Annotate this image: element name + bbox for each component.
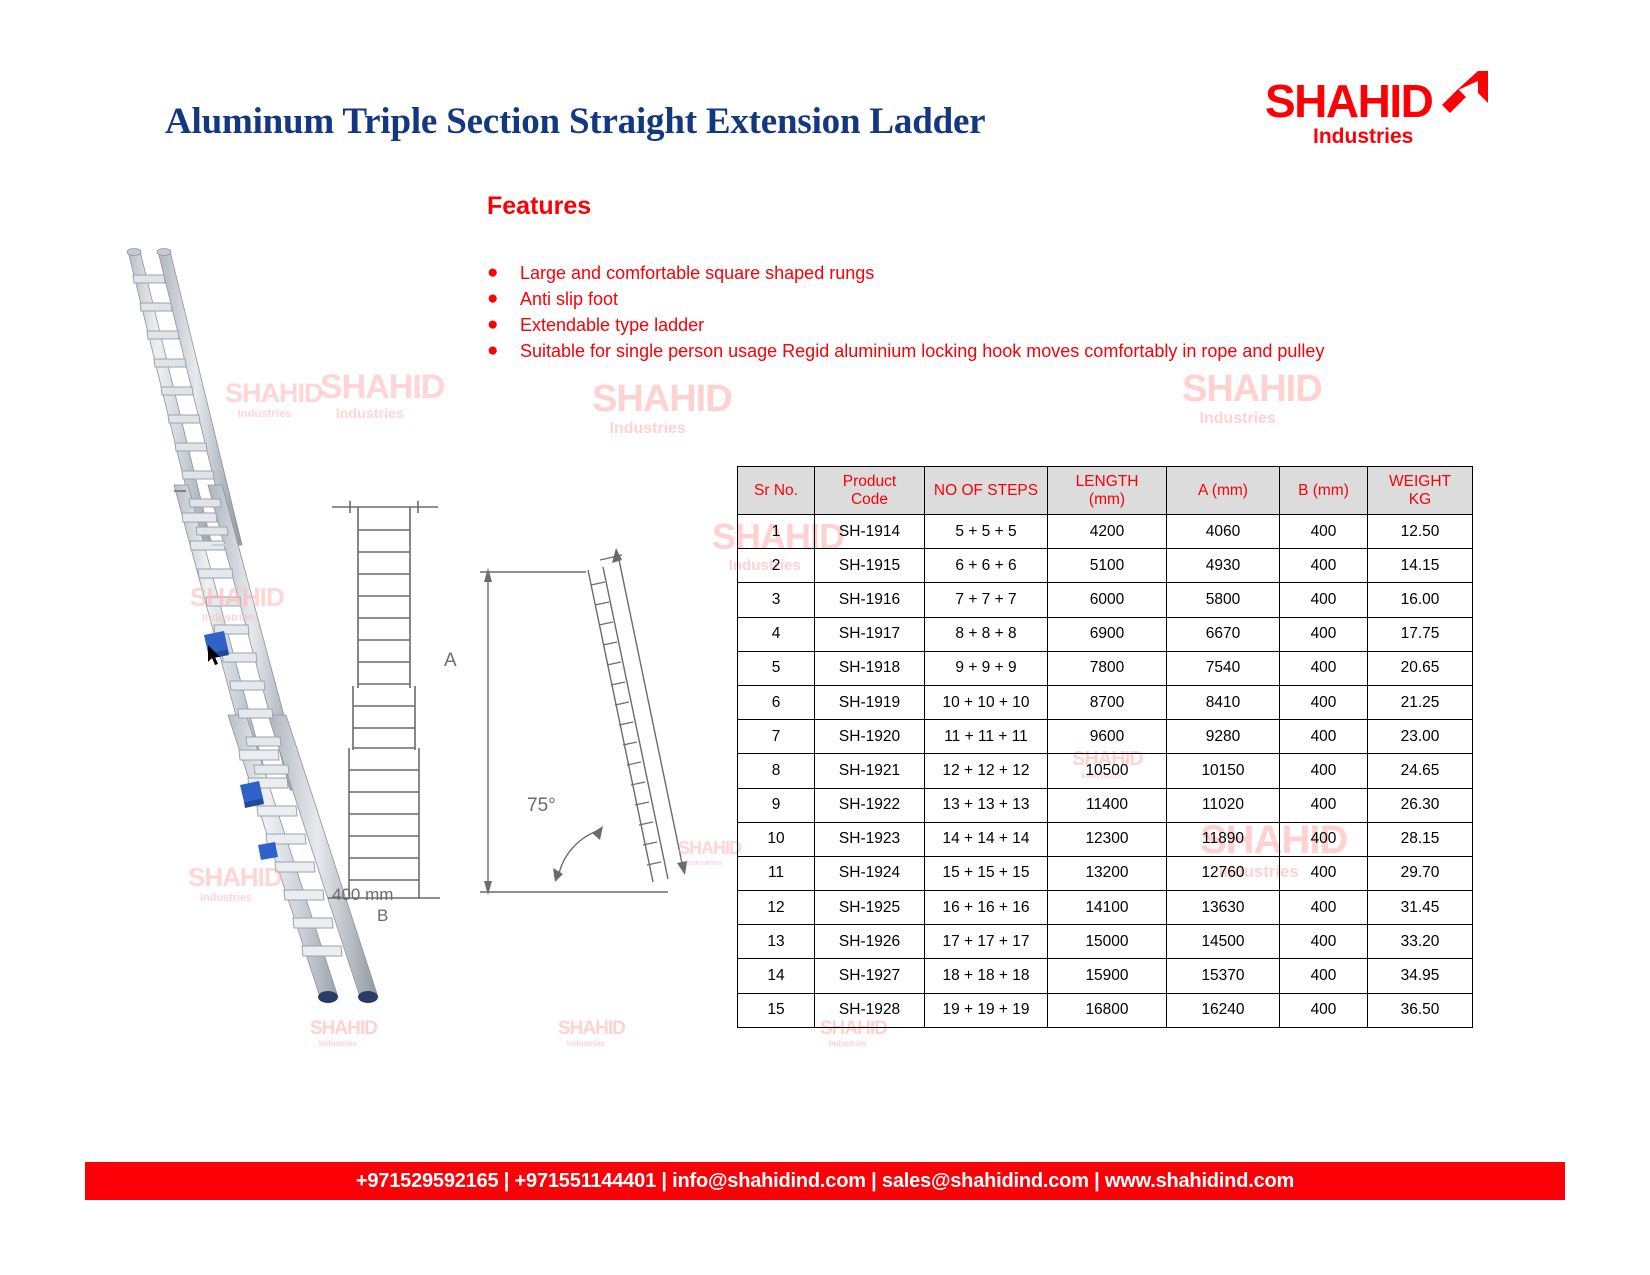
cell-product-code: SH-1923 (815, 822, 925, 856)
cell-sr-no: 11 (738, 856, 815, 890)
cell-length: 14100 (1048, 891, 1167, 925)
angle-view-dim-letter: A (444, 650, 457, 672)
cell-length: 13200 (1048, 856, 1167, 890)
cell-length: 15000 (1048, 925, 1167, 959)
cell-b: 400 (1280, 822, 1368, 856)
contact-info: +971529592165 | +971551144401 | info@sha… (356, 1170, 1294, 1193)
cell-length: 11400 (1048, 788, 1167, 822)
feature-item: ● Large and comfortable square shaped ru… (487, 262, 1324, 286)
cell-a: 8410 (1167, 685, 1280, 719)
front-view-dim-letter: B (377, 906, 388, 926)
cell-no-of-steps: 19 + 19 + 19 (925, 993, 1048, 1027)
front-view-drawing (320, 490, 450, 910)
cell-a: 5800 (1167, 583, 1280, 617)
cell-length: 10500 (1048, 754, 1167, 788)
cell-length: 16800 (1048, 993, 1167, 1027)
cell-product-code: SH-1921 (815, 754, 925, 788)
cell-product-code: SH-1916 (815, 583, 925, 617)
cell-product-code: SH-1915 (815, 549, 925, 583)
cell-length: 6900 (1048, 617, 1167, 651)
cell-product-code: SH-1918 (815, 651, 925, 685)
cell-b: 400 (1280, 925, 1368, 959)
cell-product-code: SH-1926 (815, 925, 925, 959)
cell-sr-no: 5 (738, 651, 815, 685)
table-row: 7 SH-1920 11 + 11 + 11 9600 9280 400 23.… (738, 720, 1473, 754)
cell-product-code: SH-1917 (815, 617, 925, 651)
cell-length: 9600 (1048, 720, 1167, 754)
cell-product-code: SH-1927 (815, 959, 925, 993)
feature-item: ● Extendable type ladder (487, 314, 1324, 338)
cell-no-of-steps: 11 + 11 + 11 (925, 720, 1048, 754)
cell-b: 400 (1280, 651, 1368, 685)
cell-length: 4200 (1048, 515, 1167, 549)
cell-weight: 23.00 (1368, 720, 1473, 754)
cell-no-of-steps: 13 + 13 + 13 (925, 788, 1048, 822)
cell-no-of-steps: 6 + 6 + 6 (925, 549, 1048, 583)
cell-weight: 26.30 (1368, 788, 1473, 822)
cell-weight: 16.00 (1368, 583, 1473, 617)
cell-a: 7540 (1167, 651, 1280, 685)
cell-sr-no: 2 (738, 549, 815, 583)
cell-sr-no: 15 (738, 993, 815, 1027)
column-header-sr-no: Sr No. (738, 467, 815, 515)
bullet-icon: ● (487, 262, 520, 283)
bullet-icon: ● (487, 314, 520, 335)
front-view-width-label: 400 mm (332, 885, 393, 905)
watermark: SHAHIDIndustries (558, 1018, 625, 1048)
table-row: 5 SH-1918 9 + 9 + 9 7800 7540 400 20.65 (738, 651, 1473, 685)
cell-weight: 33.20 (1368, 925, 1473, 959)
cell-b: 400 (1280, 617, 1368, 651)
cell-no-of-steps: 9 + 9 + 9 (925, 651, 1048, 685)
cell-weight: 36.50 (1368, 993, 1473, 1027)
cell-weight: 29.70 (1368, 856, 1473, 890)
cell-product-code: SH-1924 (815, 856, 925, 890)
cell-a: 11890 (1167, 822, 1280, 856)
cell-b: 400 (1280, 993, 1368, 1027)
cell-no-of-steps: 10 + 10 + 10 (925, 685, 1048, 719)
table-row: 13 SH-1926 17 + 17 + 17 15000 14500 400 … (738, 925, 1473, 959)
features-list: ● Large and comfortable square shaped ru… (487, 262, 1324, 366)
cell-weight: 28.15 (1368, 822, 1473, 856)
cell-product-code: SH-1920 (815, 720, 925, 754)
table-row: 15 SH-1928 19 + 19 + 19 16800 16240 400 … (738, 993, 1473, 1027)
cell-length: 6000 (1048, 583, 1167, 617)
cell-weight: 31.45 (1368, 891, 1473, 925)
table-row: 6 SH-1919 10 + 10 + 10 8700 8410 400 21.… (738, 685, 1473, 719)
watermark: SHAHIDIndustries (310, 1018, 377, 1048)
watermark: SHAHIDIndustries (592, 378, 732, 438)
feature-item: ● Suitable for single person usage Regid… (487, 340, 1324, 364)
cell-a: 6670 (1167, 617, 1280, 651)
cell-weight: 17.75 (1368, 617, 1473, 651)
column-header-length: LENGTH (mm) (1048, 467, 1167, 515)
angle-view-drawing (440, 500, 700, 900)
cell-product-code: SH-1925 (815, 891, 925, 925)
cell-a: 15370 (1167, 959, 1280, 993)
table-header-row: Sr No. Product Code NO OF STEPS LENGTH (… (738, 467, 1473, 515)
cell-weight: 12.50 (1368, 515, 1473, 549)
cell-b: 400 (1280, 549, 1368, 583)
column-header-product-code: Product Code (815, 467, 925, 515)
cell-no-of-steps: 16 + 16 + 16 (925, 891, 1048, 925)
cell-b: 400 (1280, 685, 1368, 719)
feature-text: Suitable for single person usage Regid a… (520, 340, 1324, 362)
logo-arrow-icon (1442, 71, 1488, 119)
contact-footer-bar: +971529592165 | +971551144401 | info@sha… (85, 1162, 1565, 1200)
cell-b: 400 (1280, 583, 1368, 617)
cell-a: 9280 (1167, 720, 1280, 754)
table-row: 8 SH-1921 12 + 12 + 12 10500 10150 400 2… (738, 754, 1473, 788)
cell-product-code: SH-1922 (815, 788, 925, 822)
cell-b: 400 (1280, 515, 1368, 549)
cell-length: 7800 (1048, 651, 1167, 685)
table-body: 1 SH-1914 5 + 5 + 5 4200 4060 400 12.50 … (738, 515, 1473, 1028)
table-row: 11 SH-1924 15 + 15 + 15 13200 12760 400 … (738, 856, 1473, 890)
cell-no-of-steps: 5 + 5 + 5 (925, 515, 1048, 549)
table-row: 3 SH-1916 7 + 7 + 7 6000 5800 400 16.00 (738, 583, 1473, 617)
cell-sr-no: 6 (738, 685, 815, 719)
cell-sr-no: 8 (738, 754, 815, 788)
column-header-b: B (mm) (1280, 467, 1368, 515)
table-row: 12 SH-1925 16 + 16 + 16 14100 13630 400 … (738, 891, 1473, 925)
cell-a: 11020 (1167, 788, 1280, 822)
cell-length: 12300 (1048, 822, 1167, 856)
cell-b: 400 (1280, 754, 1368, 788)
cell-a: 16240 (1167, 993, 1280, 1027)
cell-b: 400 (1280, 959, 1368, 993)
cell-sr-no: 12 (738, 891, 815, 925)
cell-no-of-steps: 8 + 8 + 8 (925, 617, 1048, 651)
cell-weight: 20.65 (1368, 651, 1473, 685)
features-heading: Features (487, 192, 591, 221)
watermark: SHAHIDIndustries (1182, 368, 1322, 428)
cell-weight: 21.25 (1368, 685, 1473, 719)
column-header-no-of-steps: NO OF STEPS (925, 467, 1048, 515)
cell-no-of-steps: 18 + 18 + 18 (925, 959, 1048, 993)
cell-a: 4060 (1167, 515, 1280, 549)
table-row: 4 SH-1917 8 + 8 + 8 6900 6670 400 17.75 (738, 617, 1473, 651)
feature-text: Large and comfortable square shaped rung… (520, 262, 874, 284)
specification-table: Sr No. Product Code NO OF STEPS LENGTH (… (737, 466, 1473, 1028)
datasheet-page: Aluminum Triple Section Straight Extensi… (0, 0, 1650, 1275)
column-header-weight: WEIGHT KG (1368, 467, 1473, 515)
feature-text: Extendable type ladder (520, 314, 704, 336)
cell-sr-no: 4 (738, 617, 815, 651)
angle-value-label: 75° (527, 795, 556, 817)
bullet-icon: ● (487, 340, 520, 361)
cell-product-code: SH-1928 (815, 993, 925, 1027)
cell-length: 15900 (1048, 959, 1167, 993)
feature-item: ● Anti slip foot (487, 288, 1324, 312)
cell-a: 14500 (1167, 925, 1280, 959)
cell-b: 400 (1280, 856, 1368, 890)
cell-sr-no: 13 (738, 925, 815, 959)
cell-a: 10150 (1167, 754, 1280, 788)
cell-sr-no: 3 (738, 583, 815, 617)
table-row: 9 SH-1922 13 + 13 + 13 11400 11020 400 2… (738, 788, 1473, 822)
cell-length: 5100 (1048, 549, 1167, 583)
cell-b: 400 (1280, 788, 1368, 822)
table-row: 10 SH-1923 14 + 14 + 14 12300 11890 400 … (738, 822, 1473, 856)
cell-sr-no: 1 (738, 515, 815, 549)
cell-a: 13630 (1167, 891, 1280, 925)
cell-no-of-steps: 14 + 14 + 14 (925, 822, 1048, 856)
cell-no-of-steps: 7 + 7 + 7 (925, 583, 1048, 617)
cell-product-code: SH-1919 (815, 685, 925, 719)
table-row: 14 SH-1927 18 + 18 + 18 15900 15370 400 … (738, 959, 1473, 993)
feature-text: Anti slip foot (520, 288, 618, 310)
cell-length: 8700 (1048, 685, 1167, 719)
column-header-a: A (mm) (1167, 467, 1280, 515)
cell-a: 12760 (1167, 856, 1280, 890)
cell-no-of-steps: 12 + 12 + 12 (925, 754, 1048, 788)
cell-weight: 14.15 (1368, 549, 1473, 583)
mouse-cursor-icon (208, 645, 224, 667)
cell-a: 4930 (1167, 549, 1280, 583)
page-title: Aluminum Triple Section Straight Extensi… (165, 100, 985, 143)
cell-no-of-steps: 15 + 15 + 15 (925, 856, 1048, 890)
cell-sr-no: 9 (738, 788, 815, 822)
cell-b: 400 (1280, 720, 1368, 754)
logo-subtitle: Industries (1313, 126, 1485, 148)
cell-weight: 24.65 (1368, 754, 1473, 788)
cell-weight: 34.95 (1368, 959, 1473, 993)
cell-no-of-steps: 17 + 17 + 17 (925, 925, 1048, 959)
cell-sr-no: 14 (738, 959, 815, 993)
cell-sr-no: 7 (738, 720, 815, 754)
cell-sr-no: 10 (738, 822, 815, 856)
bullet-icon: ● (487, 288, 520, 309)
company-logo: SHAHID Industries (1265, 78, 1485, 163)
table-row: 1 SH-1914 5 + 5 + 5 4200 4060 400 12.50 (738, 515, 1473, 549)
table-row: 2 SH-1915 6 + 6 + 6 5100 4930 400 14.15 (738, 549, 1473, 583)
cell-product-code: SH-1914 (815, 515, 925, 549)
cell-b: 400 (1280, 891, 1368, 925)
